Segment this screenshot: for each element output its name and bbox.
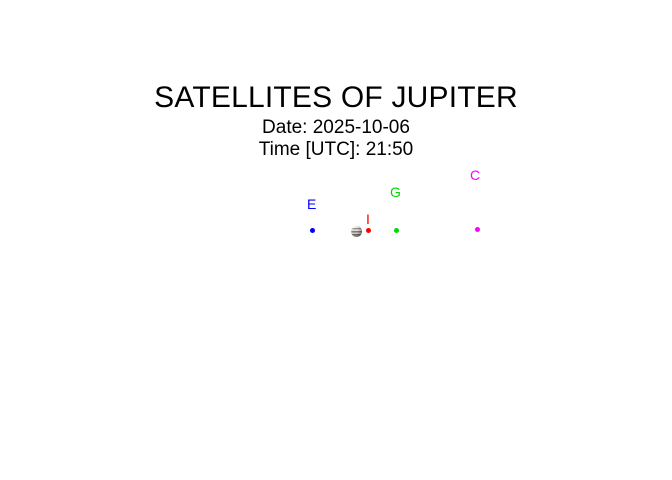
moon-label-io: I [366, 212, 370, 226]
moon-marker-europa [310, 228, 315, 233]
jupiter-disk [351, 226, 362, 237]
sky-plot-area: EIGC [0, 0, 672, 480]
satellites-of-jupiter-view: SATELLITES OF JUPITER Date: 2025-10-06 T… [0, 0, 672, 480]
moon-label-callisto: C [470, 168, 480, 182]
moon-marker-ganymede [394, 228, 399, 233]
moon-marker-callisto [475, 227, 480, 232]
moon-label-europa: E [307, 197, 316, 211]
moon-marker-io [366, 228, 371, 233]
moon-label-ganymede: G [390, 185, 401, 199]
